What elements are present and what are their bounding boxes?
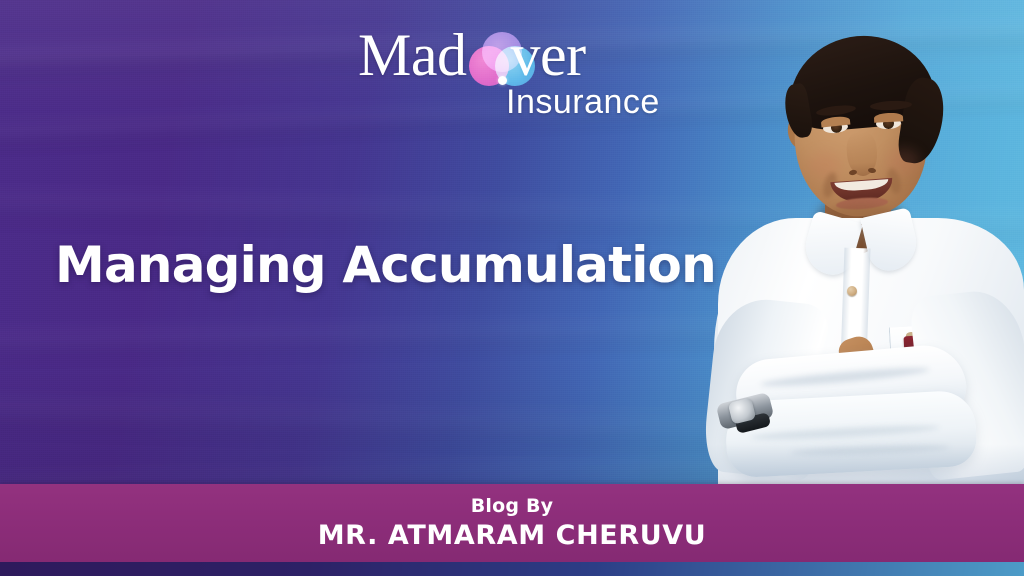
footer-bottom-strip — [0, 562, 1024, 576]
blog-promo-banner: Madver Insurance Managing Accumulation B… — [0, 0, 1024, 576]
page-title: Managing Accumulation — [55, 235, 715, 295]
author-credit-band: Blog By MR. ATMARAM CHERUVU — [0, 484, 1024, 562]
brand-logo[interactable]: Madver Insurance — [356, 24, 686, 124]
brand-subtitle: Insurance — [506, 84, 660, 120]
author-name: MR. ATMARAM CHERUVU — [318, 520, 707, 552]
blog-by-label: Blog By — [471, 495, 554, 517]
brand-word-mad: Mad — [358, 22, 466, 88]
